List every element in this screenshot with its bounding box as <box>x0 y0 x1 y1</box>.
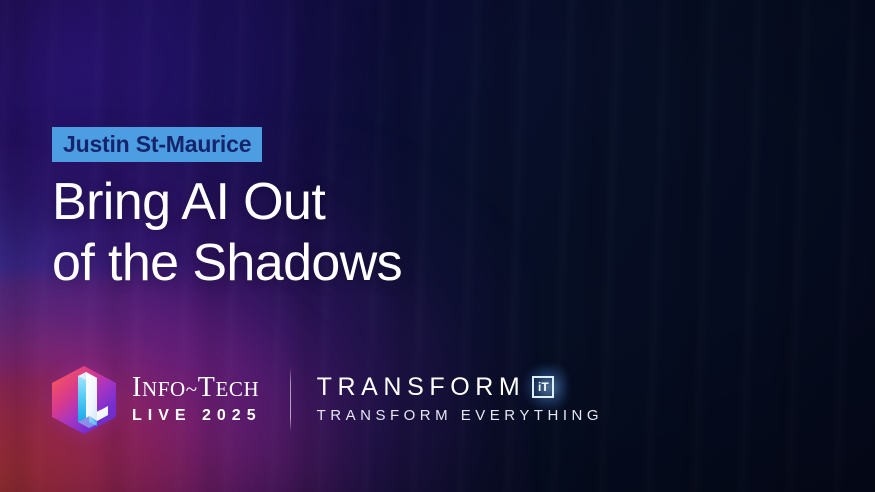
speaker-name-label: Justin St-Maurice <box>63 133 251 156</box>
it-badge-label: iT <box>532 376 554 398</box>
brand-nfo: NFO <box>142 377 186 401</box>
logo-isometric-l-glyph <box>48 362 120 438</box>
info-tech-brand-name: INFO~TECH <box>132 373 262 402</box>
event-name-live-2025: LIVE 2025 <box>132 407 262 425</box>
transform-wordmark: TRANSFORM iT TRANSFORM EVERYTHING <box>317 374 603 427</box>
lockup-divider <box>290 369 291 431</box>
info-tech-hex-l-logo-icon <box>48 362 120 438</box>
speaker-name-badge: Justin St-Maurice <box>52 127 262 162</box>
info-tech-wordmark: INFO~TECH LIVE 2025 <box>132 373 262 427</box>
slide-title-line-1: Bring AI Out <box>52 172 692 233</box>
brand-ech: ECH <box>215 377 259 401</box>
transform-label: TRANSFORM <box>317 374 526 402</box>
transform-title-row: TRANSFORM iT <box>317 374 603 402</box>
brand-initial-t: T <box>198 372 216 403</box>
presentation-title-slide: Justin St-Maurice Bring AI Out of the Sh… <box>0 0 875 492</box>
brand-initial-i: I <box>132 372 142 403</box>
brand-tilde: ~ <box>186 377 198 401</box>
it-square-badge-icon: iT <box>532 376 554 398</box>
footer-logo-lockup: INFO~TECH LIVE 2025 TRANSFORM iT TRANSFO… <box>48 362 603 438</box>
slide-title: Bring AI Out of the Shadows <box>52 172 692 294</box>
slide-title-line-2: of the Shadows <box>52 233 692 294</box>
